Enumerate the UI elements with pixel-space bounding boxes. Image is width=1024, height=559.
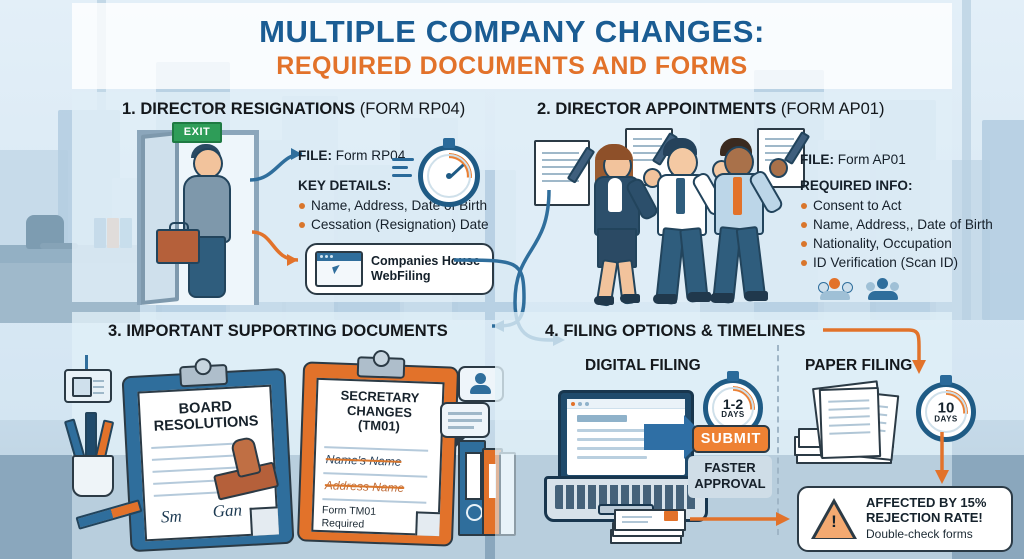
panel2-bullet-2: Name, Address,, Date of Birth [800,215,993,234]
clipboard-b-note-line2: Required [321,517,375,531]
submit-button[interactable]: SUBMIT [692,425,770,453]
panel2-bullet-1: Consent to Act [800,196,993,215]
page-title-line2: REQUIRED DOCUMENTS AND FORMS [72,49,952,79]
warning-line1: AFFECTED BY 15% [866,496,986,511]
warning-triangle-icon: ! [811,498,857,539]
digital-timer-value: 1-2 [708,397,758,411]
clipboard-b-form-note: Form TM01 Required [321,504,376,531]
warning-line3: Double-check forms [866,527,986,542]
panel4-title: 4. FILING OPTIONS & TIMELINES [545,322,805,341]
digital-filing-heading: DIGITAL FILING [585,357,701,375]
paper-timer-unit: DAYS [921,416,971,424]
stopwatch-paper-timeline: 10 DAYS [916,382,976,442]
panel2-bullet-3: Nationality, Occupation [800,234,993,253]
mail-stack-icon [610,505,690,545]
panel2-bullet-4: ID Verification (Scan ID) [800,253,993,272]
panel3-title: 3. IMPORTANT SUPPORTING DOCUMENTS [108,322,448,341]
panel2-title: 2. DIRECTOR APPOINTMENTS (FORM AP01) [537,100,884,119]
header-banner: MULTIPLE COMPANY CHANGES: REQUIRED DOCUM… [72,3,952,89]
panel2-required-label: REQUIRED INFO: [800,176,913,195]
panel1-file-label: FILE: [298,148,332,163]
panel1-title-main: 1. DIRECTOR RESIGNATIONS [122,100,355,118]
panel1-title-form: (FORM RP04) [360,100,465,118]
panel2-file-value: Form AP01 [838,152,906,167]
briefcase-icon [156,229,200,264]
panel2-file-label: FILE: [800,152,834,167]
pen-cup-icon [72,455,114,497]
clipboard-b-note-line1: Form TM01 [322,504,376,518]
badge-lanyard [85,355,88,369]
faster-line2: APPROVAL [688,476,772,492]
exit-sign: EXIT [172,122,222,143]
exit-door-leaf [141,131,179,305]
panel2-required-info-list: Consent to Act Name, Address,, Date of B… [800,196,993,272]
speech-bubble-lines-icon [440,402,490,438]
panel2-file-line: FILE: Form AP01 [800,150,906,169]
clipboard-a-signature-2: Gan [212,500,242,522]
stopwatch-icon-resignation [418,145,480,207]
filing-options-divider [777,345,779,535]
page-title-line1: MULTIPLE COMPANY CHANGES: [72,3,952,49]
speed-lines-icon [392,158,414,182]
panel1-file-line: FILE: Form RP04 [298,146,405,165]
submit-flow-arrow [644,424,686,450]
clipboard-a-signature-1: Sm [160,506,182,527]
clipboard-b-struck-line-1: Name's Name [326,452,402,469]
clipboard-b-struck-line-2: Address Name [325,478,405,495]
clipboard-board-resolutions: BOARD RESOLUTIONS Sm Gan [122,368,295,552]
paper-filing-heading: PAPER FILING [805,357,912,375]
browser-window-icon [315,251,363,287]
paper-timer-value: 10 [921,401,971,416]
companies-house-webfiling-chip[interactable]: Companies House WebFiling [305,243,494,295]
faster-line1: FASTER [688,460,772,476]
clipboard-secretary-changes: SECRETARY CHANGES (TM01) Name's Name Add… [297,361,459,546]
panel1-key-label: KEY DETAILS: [298,176,391,195]
paper-stack-icon [790,378,910,484]
infographic-canvas: MULTIPLE COMPANY CHANGES: REQUIRED DOCUM… [0,0,1024,559]
clipboard-b-title: SECRETARY CHANGES (TM01) [303,387,456,436]
panel1-bullet-2: Cessation (Resignation) Date [298,215,489,234]
id-badge-icon [64,369,112,403]
digital-timer-unit: DAYS [708,411,758,419]
rubber-stamp-icon [213,437,276,494]
rejection-rate-warning: ! AFFECTED BY 15% REJECTION RATE! Double… [797,486,1013,552]
warning-line2: REJECTION RATE! [866,511,986,526]
panel1-title: 1. DIRECTOR RESIGNATIONS (FORM RP04) [122,100,465,119]
panel2-title-main: 2. DIRECTOR APPOINTMENTS [537,100,776,118]
group-people-icon-2 [866,278,900,300]
faster-approval-badge: FASTER APPROVAL [688,456,772,498]
panel2-title-form: (FORM AP01) [781,100,885,118]
chip-label-line1: Companies House [371,254,480,269]
chip-label-line2: WebFiling [371,269,480,284]
group-people-icon-1 [818,278,852,300]
